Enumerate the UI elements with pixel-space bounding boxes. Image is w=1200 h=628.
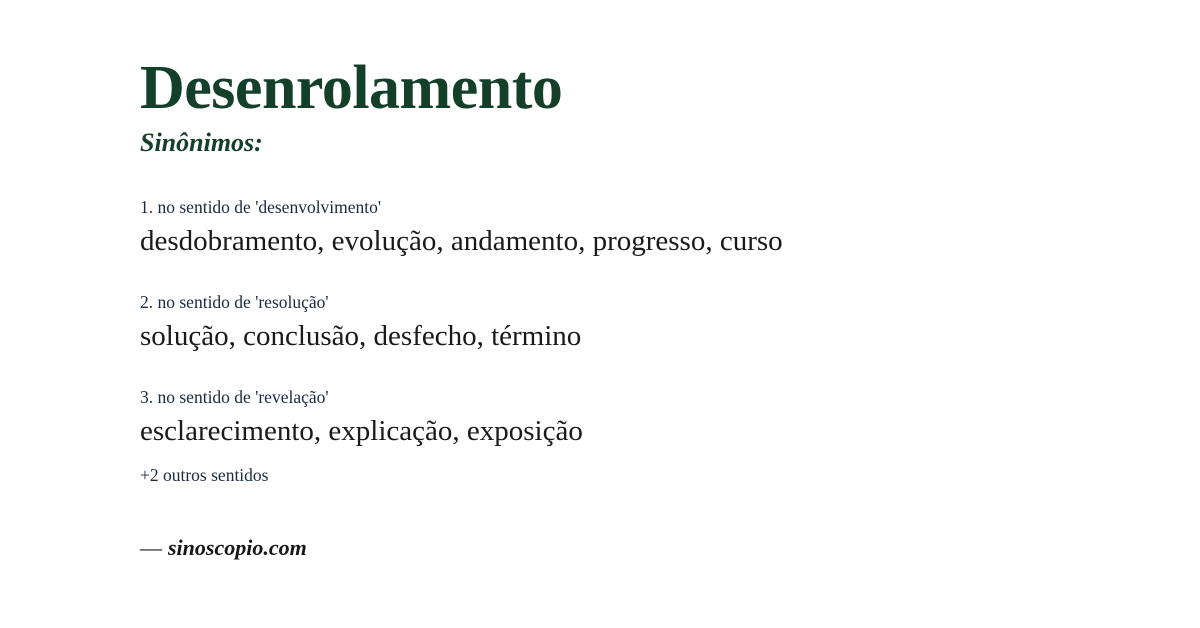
synonym-card: Desenrolamento Sinônimos: 1. no sentido … xyxy=(0,0,1200,628)
sense-synonyms: esclarecimento, explicação, exposição xyxy=(140,414,1160,449)
header-block: Desenrolamento Sinônimos: xyxy=(140,56,1140,158)
sense-item: 3. no sentido de 'revelação' esclarecime… xyxy=(140,386,1160,449)
synonyms-subtitle: Sinônimos: xyxy=(140,128,1140,158)
sense-synonyms: desdobramento, evolução, andamento, prog… xyxy=(140,224,1160,259)
source-name: sinoscopio.com xyxy=(168,535,307,560)
sense-label: 1. no sentido de 'desenvolvimento' xyxy=(140,196,1160,219)
sense-list: 1. no sentido de 'desenvolvimento' desdo… xyxy=(140,196,1160,449)
sense-item: 1. no sentido de 'desenvolvimento' desdo… xyxy=(140,196,1160,259)
em-dash: — xyxy=(140,535,162,560)
sense-item: 2. no sentido de 'resolução' solução, co… xyxy=(140,291,1160,354)
sense-label: 2. no sentido de 'resolução' xyxy=(140,291,1160,314)
sense-label: 3. no sentido de 'revelação' xyxy=(140,386,1160,409)
more-senses-note: +2 outros sentidos xyxy=(140,464,268,487)
sense-synonyms: solução, conclusão, desfecho, término xyxy=(140,319,1160,354)
page-title: Desenrolamento xyxy=(140,56,1140,122)
source-attribution: —sinoscopio.com xyxy=(140,534,307,563)
